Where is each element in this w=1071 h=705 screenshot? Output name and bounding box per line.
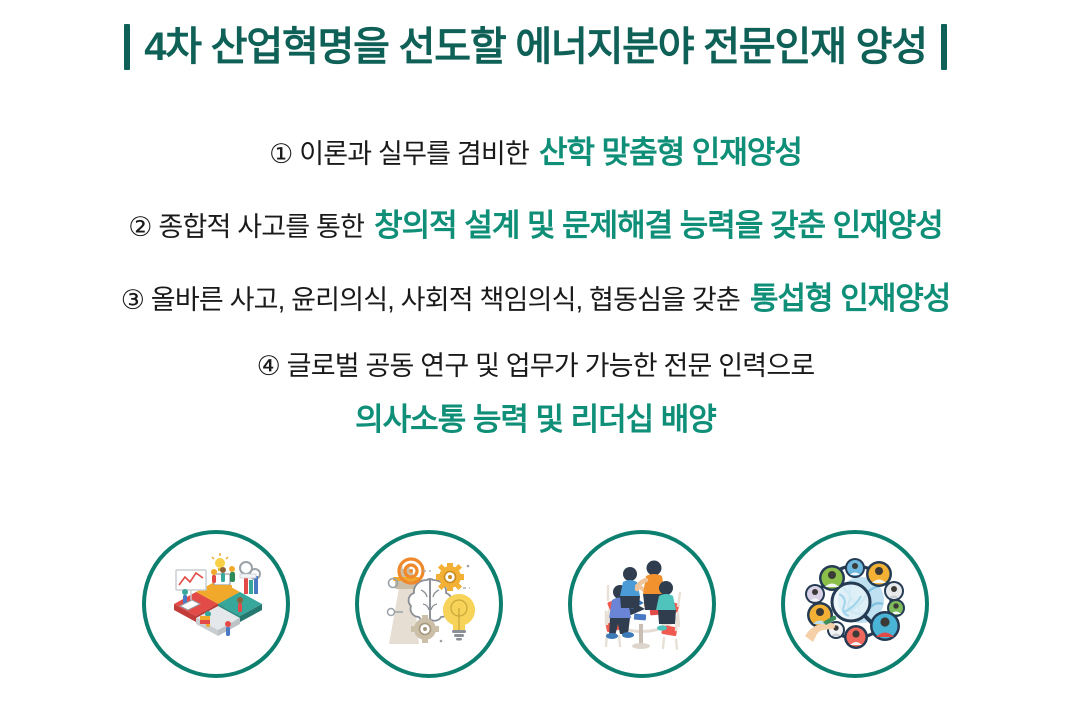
title-right-bar-icon bbox=[941, 24, 947, 70]
bullet-list: ① 이론과 실무를 겸비한산학 맞춤형 인재양성 ② 종합적 사고를 통한창의적… bbox=[0, 126, 1071, 439]
bullet-4-highlight-text: 의사소통 능력 및 리더십 배양 bbox=[355, 402, 716, 437]
slide-root: 4차 산업혁명을 선도할 에너지분야 전문인재 양성 ① 이론과 실무를 겸비한… bbox=[0, 0, 1071, 705]
icon-row bbox=[0, 528, 1071, 680]
team-meeting-table-icon bbox=[568, 530, 716, 678]
bullet-1-highlight-text: 산학 맞춤형 인재양성 bbox=[539, 135, 802, 170]
bullet-item-1: ① 이론과 실무를 겸비한산학 맞춤형 인재양성 bbox=[0, 134, 1071, 173]
bullet-2-highlight-text: 창의적 설계 및 문제해결 능력을 갖춘 인재양성 bbox=[374, 208, 943, 243]
title-left-bar-icon bbox=[124, 24, 130, 70]
bullet-2-plain-text: ② 종합적 사고를 통한 bbox=[128, 212, 364, 242]
bullet-item-4-subline: 의사소통 능력 및 리더십 배양 bbox=[0, 394, 1071, 439]
title-text: 4차 산업혁명을 선도할 에너지분야 전문인재 양성 bbox=[144, 25, 927, 69]
global-people-network-icon bbox=[781, 530, 929, 678]
bullet-3-plain-text: ③ 올바른 사고, 윤리의식, 사회적 책임의식, 협동심을 갖춘 bbox=[121, 285, 740, 315]
bullet-item-3: ③ 올바른 사고, 윤리의식, 사회적 책임의식, 협동심을 갖춘통섭형 인재양… bbox=[0, 280, 1071, 319]
bullet-item-4: ④ 글로벌 공동 연구 및 업무가 가능한 전문 인력으로 bbox=[0, 350, 1071, 384]
bullet-3-highlight-text: 통섭형 인재양성 bbox=[750, 281, 950, 316]
industry-academia-collaboration-icon bbox=[142, 530, 290, 678]
bullet-4-plain-text: ④ 글로벌 공동 연구 및 업무가 가능한 전문 인력으로 bbox=[257, 351, 815, 381]
creative-brain-gears-icon bbox=[355, 530, 503, 678]
bullet-item-2: ② 종합적 사고를 통한창의적 설계 및 문제해결 능력을 갖춘 인재양성 bbox=[0, 207, 1071, 246]
bullet-1-plain-text: ① 이론과 실무를 겸비한 bbox=[269, 139, 529, 169]
page-title: 4차 산업혁명을 선도할 에너지분야 전문인재 양성 bbox=[0, 12, 1071, 82]
